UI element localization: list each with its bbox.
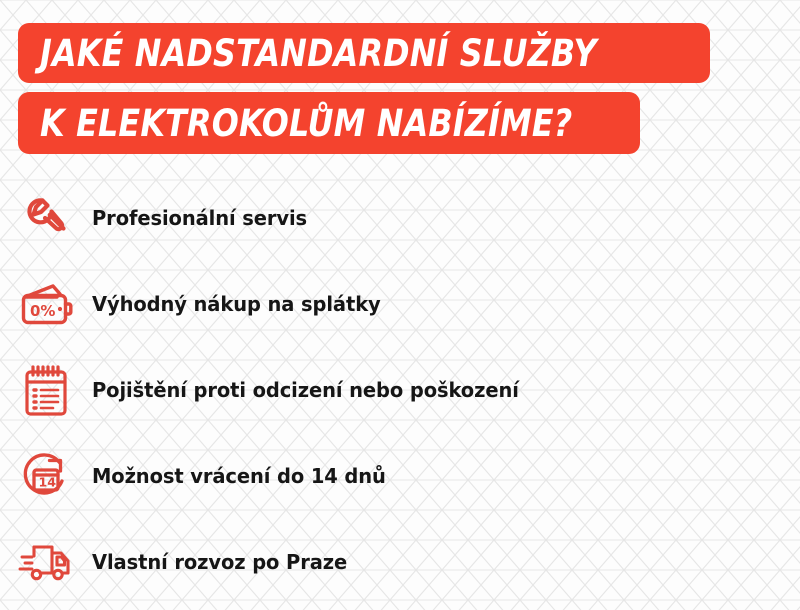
promo-banner-page: JAKÉ NADSTANDARDNÍ SLUŽBY K ELEKTROKOLŮM… xyxy=(0,0,800,610)
list-item: Pojištění proti odcizení nebo poškození xyxy=(0,347,800,433)
list-item: 14 Možnost vrácení do 14 dnů xyxy=(0,433,800,519)
wallet-0-percent-icon: 0% xyxy=(0,279,92,329)
feature-label: Profesionální servis xyxy=(92,206,307,230)
feature-label: Pojištění proti odcizení nebo poškození xyxy=(92,378,519,402)
delivery-truck-icon xyxy=(0,539,92,585)
feature-list: Profesionální servis 0% Výhodný nákup na… xyxy=(0,175,800,605)
return-icon-text: 14 xyxy=(39,475,57,490)
feature-label: Možnost vrácení do 14 dnů xyxy=(92,464,386,488)
heading-banner-line-1: JAKÉ NADSTANDARDNÍ SLUŽBY xyxy=(18,23,710,83)
list-item: 0% Výhodný nákup na splátky xyxy=(0,261,800,347)
heading-line-2-text: K ELEKTROKOLŮM NABÍZÍME? xyxy=(40,102,572,145)
list-item: Profesionální servis xyxy=(0,175,800,261)
feature-label: Vlastní rozvoz po Praze xyxy=(92,550,347,574)
return-14-days-icon: 14 xyxy=(0,449,92,503)
list-item: Vlastní rozvoz po Praze xyxy=(0,519,800,605)
heading-line-1-text: JAKÉ NADSTANDARDNÍ SLUŽBY xyxy=(40,32,597,75)
heading-banner-line-2: K ELEKTROKOLŮM NABÍZÍME? xyxy=(18,92,640,154)
wrench-icon xyxy=(0,192,92,244)
feature-label: Výhodný nákup na splátky xyxy=(92,292,381,316)
wallet-icon-text: 0% xyxy=(30,302,55,320)
notepad-document-icon xyxy=(0,363,92,417)
